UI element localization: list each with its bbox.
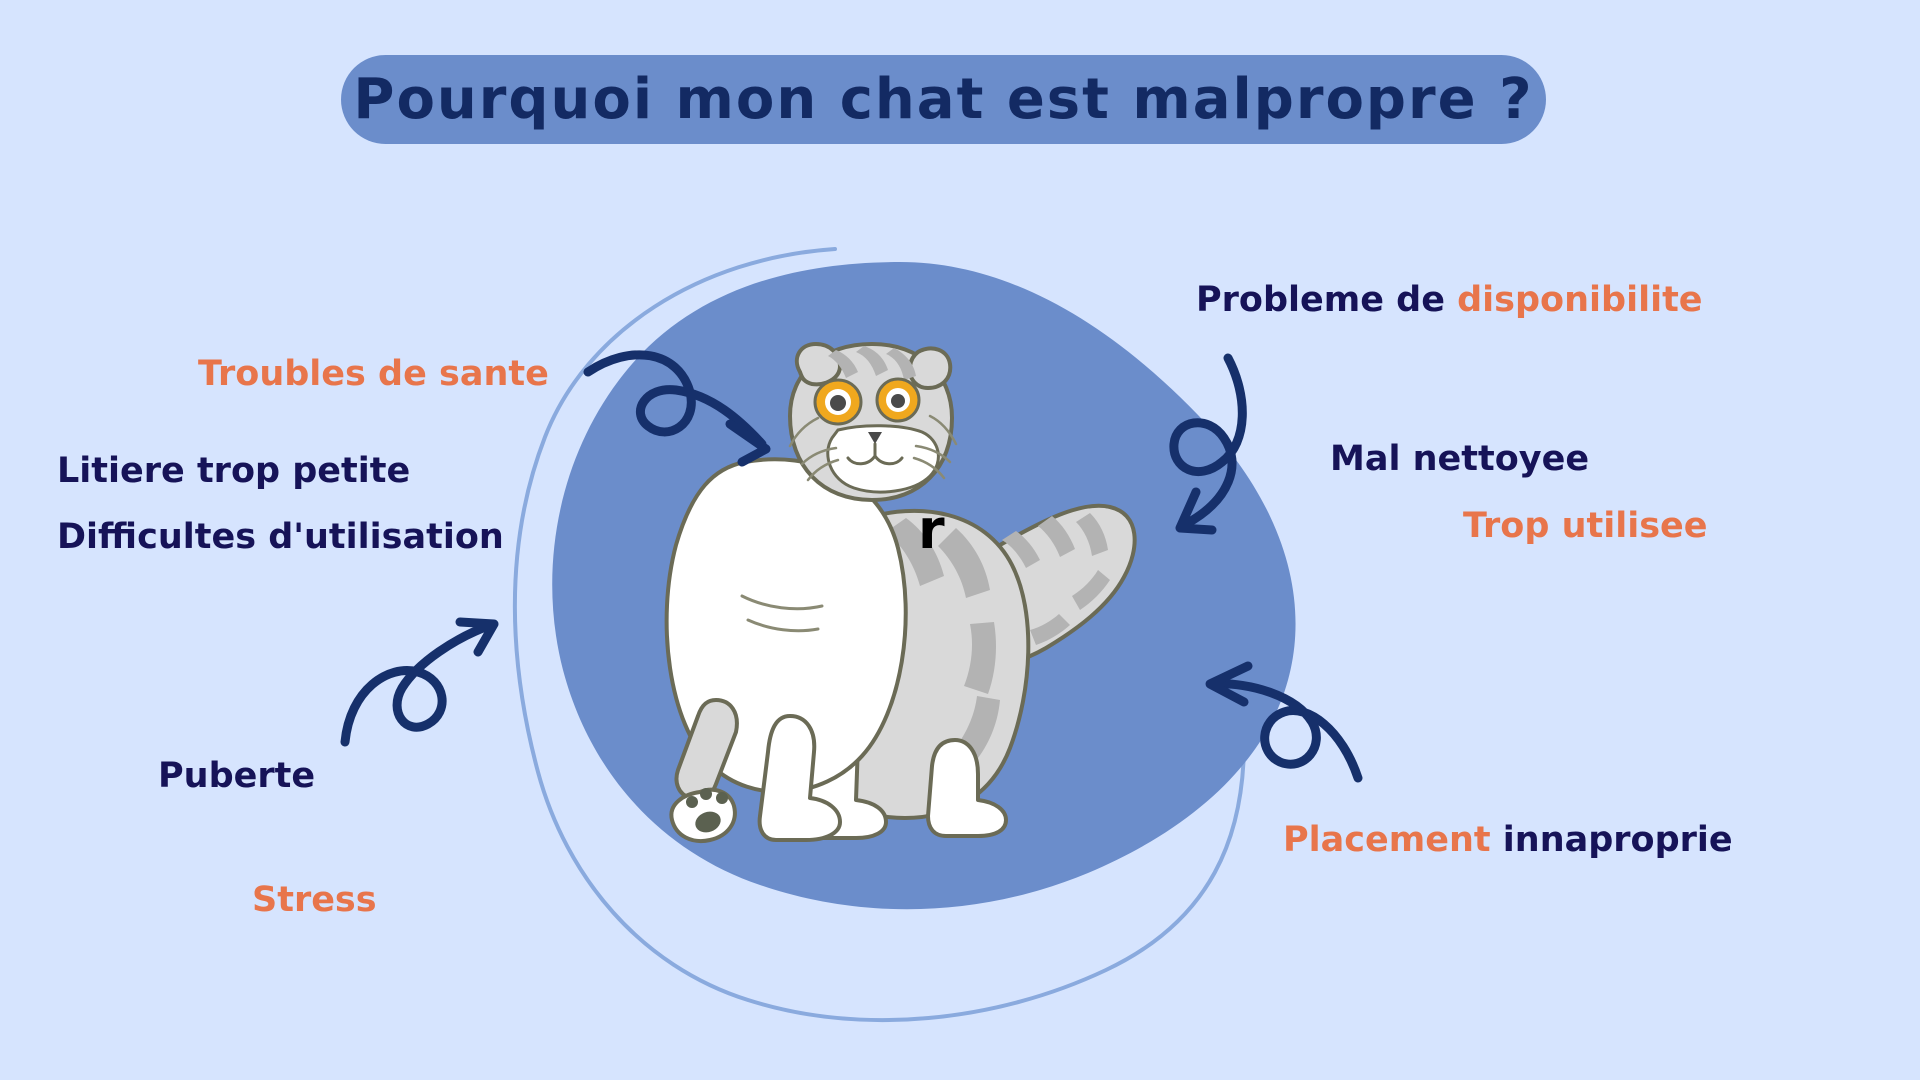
cat-rear-body — [786, 511, 1028, 818]
cat-mouth — [848, 444, 902, 464]
label-troubles-de-sante: Troubles de sante — [198, 355, 549, 394]
label-stress: Stress — [252, 881, 377, 920]
label-probleme-de-disponibilite: Probleme de disponibilite — [1196, 281, 1703, 320]
blob-outline — [515, 249, 1244, 1020]
cat-front-leg-extended — [677, 700, 737, 799]
label-trop-utilisee: Trop utilisee — [1463, 507, 1708, 546]
infographic-canvas: r Pou — [0, 0, 1920, 1080]
arrow-puberte-icon — [345, 622, 494, 742]
label-innaproprie-suffix: innaproprie — [1503, 820, 1733, 860]
cat-ear-right — [910, 348, 951, 388]
cat-body-stripes — [836, 518, 1000, 758]
label-disponibilite-highlight: disponibilite — [1457, 280, 1702, 320]
cat-tail-stripes — [1002, 513, 1110, 645]
label-placement-innaproprie: Placement innaproprie — [1283, 821, 1733, 860]
cat-belly-lines — [742, 596, 822, 631]
cat-chest — [667, 459, 906, 792]
label-probleme-prefix: Probleme de — [1196, 280, 1457, 320]
cat-rear-leg-far — [928, 740, 1006, 836]
arrow-placement-icon — [1210, 666, 1358, 778]
cat-whiskers — [790, 416, 956, 480]
label-placement-highlight: Placement — [1283, 820, 1503, 860]
cat-front-paw-lifted — [671, 790, 734, 841]
cat-paw-pads — [686, 788, 728, 836]
arrows-group — [345, 355, 1358, 778]
label-difficultes-utilisation: Difficultes d'utilisation — [57, 518, 504, 557]
label-litiere-trop-petite: Litiere trop petite — [57, 452, 410, 491]
page-title: Pourquoi mon chat est malpropre ? — [353, 67, 1533, 132]
cat-head-stripes — [828, 346, 916, 380]
stray-glyph-artifact: r — [918, 498, 945, 561]
label-mal-nettoyee: Mal nettoyee — [1330, 440, 1589, 479]
cat-illustration: r — [667, 344, 1135, 841]
cat-tail — [980, 506, 1134, 664]
arrow-troubles-de-sante-icon — [588, 355, 766, 462]
cat-muzzle — [828, 426, 939, 492]
cat-ear-left — [797, 344, 840, 384]
cat-rear-leg-near — [806, 706, 886, 838]
cat-head — [790, 344, 952, 500]
cat-eye-left — [815, 380, 861, 424]
title-banner: Pourquoi mon chat est malpropre ? — [341, 55, 1546, 144]
cat-eye-right — [877, 379, 919, 421]
blob-shape — [552, 262, 1295, 909]
label-puberte: Puberte — [158, 757, 315, 796]
arrow-disponibilite-icon — [1174, 358, 1242, 530]
cat-front-leg-standing — [760, 716, 840, 840]
cat-nose — [868, 432, 882, 444]
